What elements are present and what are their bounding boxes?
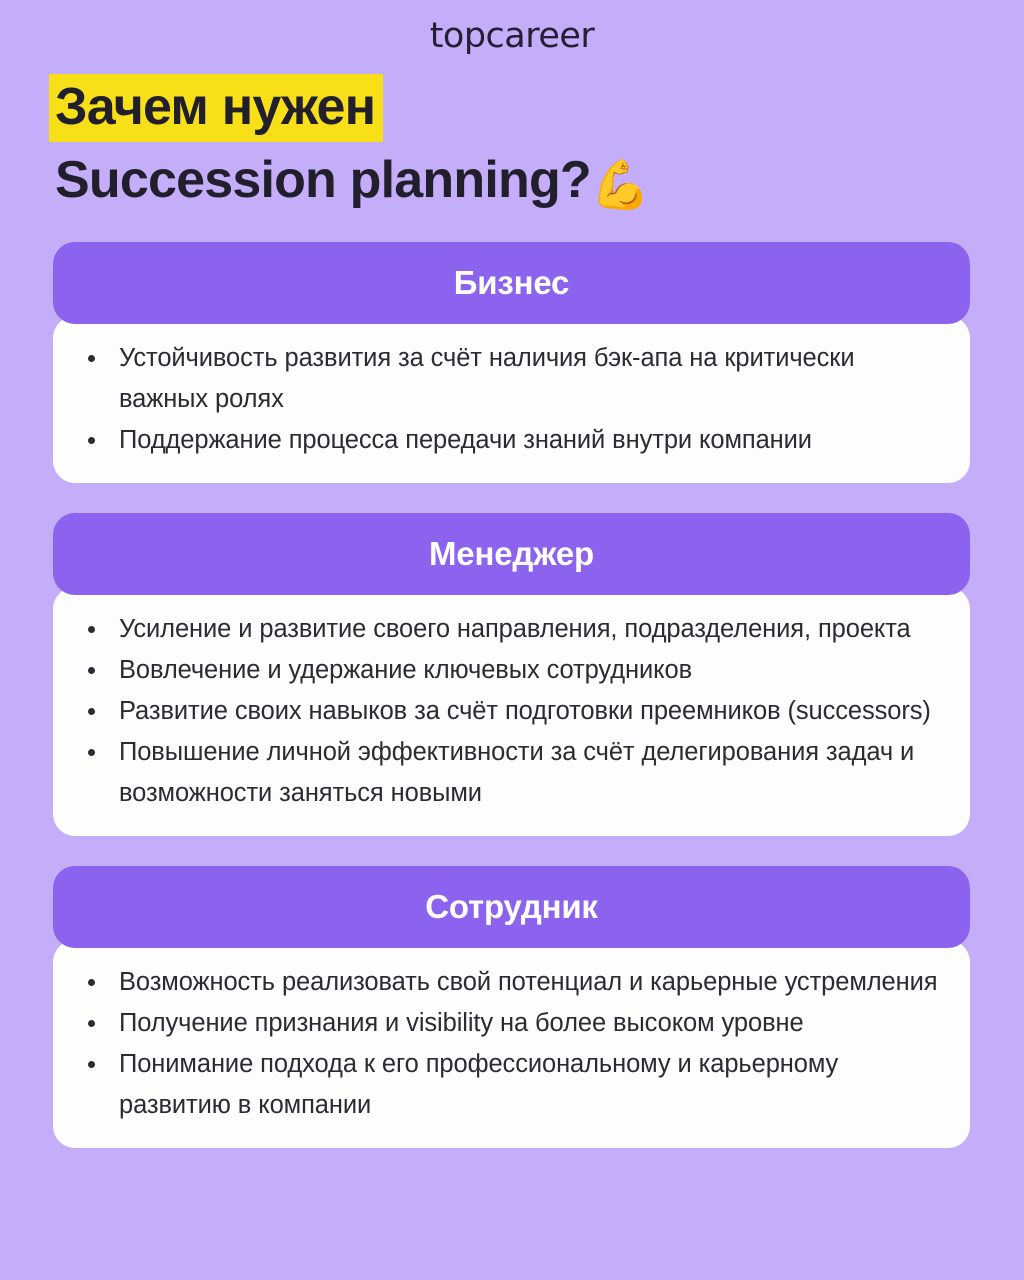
bullet-dot-icon [88,979,95,986]
brand-logo: topcareer [430,16,595,56]
bullet-text: Усиление и развитие своего направления, … [119,615,911,643]
bullet-dot-icon [88,749,95,756]
bullet-dot-icon [88,1020,95,1027]
bullet-text: Повышение личной эффективности за счёт д… [119,738,914,807]
bullet-text: Вовлечение и удержание ключевых сотрудни… [119,656,692,684]
bullet-list-business: Устойчивость развития за счёт наличия бэ… [83,338,944,461]
section-header-label: Менеджер [429,535,594,573]
poster-slide: topcareer Зачем нужен Succession plannin… [0,0,1024,1280]
list-item: Получение признания и visibility на боле… [83,1003,944,1044]
list-item: Поддержание процесса передачи знаний вну… [83,420,944,461]
bullet-text: Устойчивость развития за счёт наличия бэ… [119,344,854,413]
bullet-dot-icon [88,667,95,674]
list-item: Развитие своих навыков за счёт подготовк… [83,691,944,732]
title-line-2: Succession planning?💪 [55,149,1024,211]
sections-list: Бизнес Устойчивость развития за счёт нал… [0,242,1024,1148]
bullet-text: Развитие своих навыков за счёт подготовк… [119,697,931,725]
flexed-biceps-icon: 💪 [591,157,650,213]
bullet-text: Понимание подхода к его профессиональном… [119,1050,838,1119]
section-employee: Сотрудник Возможность реализовать свой п… [53,866,970,1148]
bullet-text: Возможность реализовать свой потенциал и… [119,968,937,996]
section-header-manager: Менеджер [53,513,970,595]
section-manager: Менеджер Усиление и развитие своего напр… [53,513,970,836]
title-text-2: Succession planning? [55,151,591,209]
title-block: Зачем нужен Succession planning?💪 [0,72,1024,211]
bullet-dot-icon [88,437,95,444]
bullet-dot-icon [88,1061,95,1068]
bullet-dot-icon [88,626,95,633]
bullet-text: Получение признания и visibility на боле… [119,1009,804,1037]
bullet-text: Поддержание процесса передачи знаний вну… [119,426,812,454]
list-item: Возможность реализовать свой потенциал и… [83,962,944,1003]
title-line-1: Зачем нужен [55,76,1024,138]
section-business: Бизнес Устойчивость развития за счёт нал… [53,242,970,483]
list-item: Понимание подхода к его профессиональном… [83,1044,944,1126]
section-header-employee: Сотрудник [53,866,970,948]
bullet-list-manager: Усиление и развитие своего направления, … [83,609,944,814]
list-item: Повышение личной эффективности за счёт д… [83,732,944,814]
bullet-dot-icon [88,708,95,715]
section-header-label: Сотрудник [425,888,597,926]
brand-header: topcareer [0,0,1024,72]
section-card-manager: Усиление и развитие своего направления, … [53,587,970,836]
bullet-dot-icon [88,355,95,362]
section-header-label: Бизнес [454,264,569,302]
list-item: Усиление и развитие своего направления, … [83,609,944,650]
section-header-business: Бизнес [53,242,970,324]
bullet-list-employee: Возможность реализовать свой потенциал и… [83,962,944,1126]
list-item: Устойчивость развития за счёт наличия бэ… [83,338,944,420]
section-card-employee: Возможность реализовать свой потенциал и… [53,940,970,1148]
section-card-business: Устойчивость развития за счёт наличия бэ… [53,316,970,483]
title-highlight: Зачем нужен [49,74,383,142]
list-item: Вовлечение и удержание ключевых сотрудни… [83,650,944,691]
